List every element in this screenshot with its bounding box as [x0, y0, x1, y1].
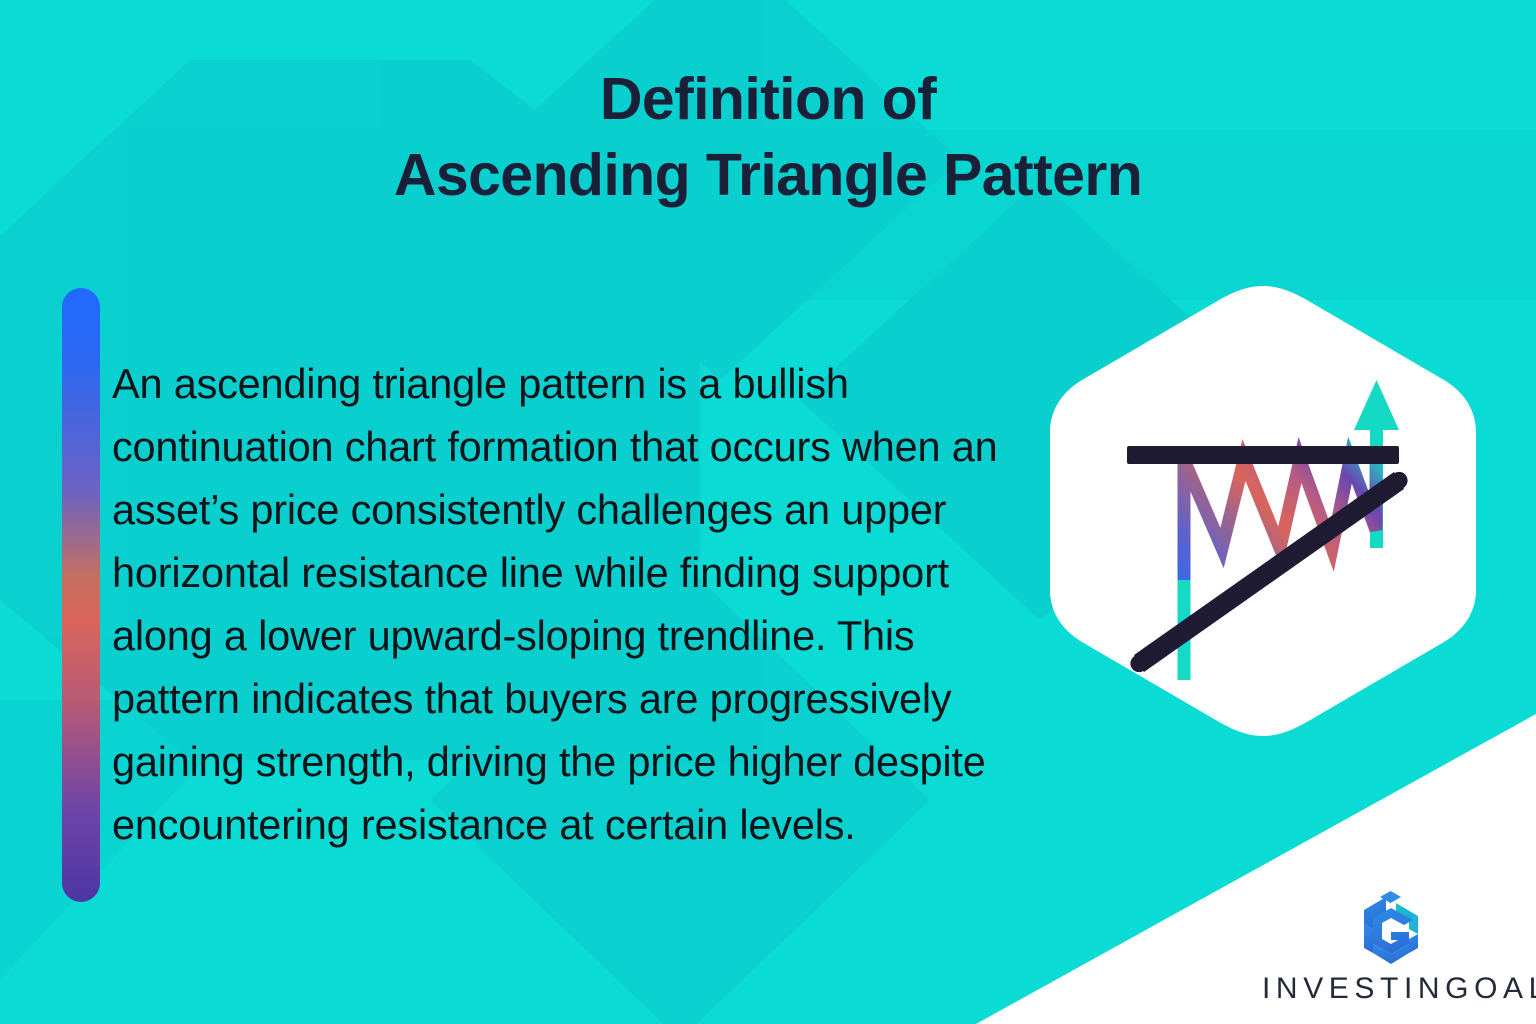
infographic-canvas: Definition of Ascending Triangle Pattern…	[0, 0, 1536, 1024]
investingoal-wordmark: INVESTINGOAL	[1262, 972, 1528, 1006]
page-title: Definition of Ascending Triangle Pattern	[0, 62, 1536, 213]
ascending-triangle-chart-svg	[1032, 280, 1494, 742]
page-title-line-1: Definition of	[0, 62, 1536, 138]
definition-paragraph: An ascending triangle pattern is a bulli…	[112, 352, 1052, 856]
page-title-line-2: Ascending Triangle Pattern	[0, 138, 1536, 214]
investingoal-hexagon-g-icon	[1346, 886, 1436, 976]
accent-gradient-bar	[62, 288, 100, 902]
investingoal-logo: INVESTINGOAL	[1262, 886, 1528, 1014]
investingoal-mark-icon	[1346, 886, 1436, 976]
ascending-triangle-illustration	[1032, 280, 1494, 742]
resistance-line	[1127, 446, 1399, 464]
